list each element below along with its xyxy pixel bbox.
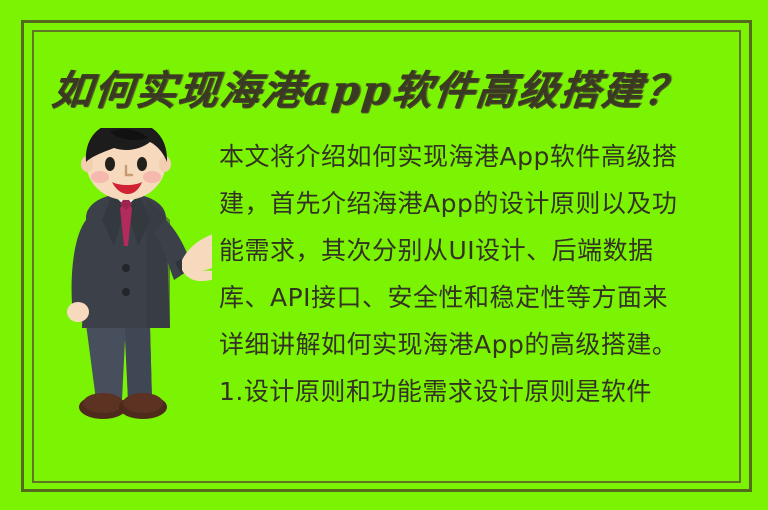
page-title: 如何实现海港app软件高级搭建？ (49, 60, 716, 122)
body-line: 建，首先介绍海港App的设计原则以及功 (219, 180, 743, 227)
blush-right (143, 171, 161, 183)
body-line: 本文将介绍如何实现海港App软件高级搭 (219, 133, 743, 180)
body-line: 1.设计原则和功能需求设计原则是软件 (219, 368, 743, 415)
eye-left (105, 157, 115, 171)
shoes-shape (79, 393, 167, 419)
suit-button (122, 264, 130, 272)
body-line: 库、API接口、安全性和稳定性等方面来 (219, 274, 743, 321)
eye-right (137, 157, 147, 171)
trousers-shape (86, 324, 152, 400)
head-shape (81, 128, 171, 200)
blush-left (91, 171, 109, 183)
body-line: 能需求，其次分别从UI设计、后端数据 (219, 227, 743, 274)
suit-button (122, 288, 130, 296)
businessman-illustration (42, 128, 212, 423)
body-line: 详细讲解如何实现海港App的高级搭建。 (219, 321, 743, 368)
body-paragraph: 本文将介绍如何实现海港App软件高级搭 建，首先介绍海港App的设计原则以及功 … (219, 133, 743, 415)
poster-canvas: 如何实现海港app软件高级搭建？ (0, 0, 768, 510)
